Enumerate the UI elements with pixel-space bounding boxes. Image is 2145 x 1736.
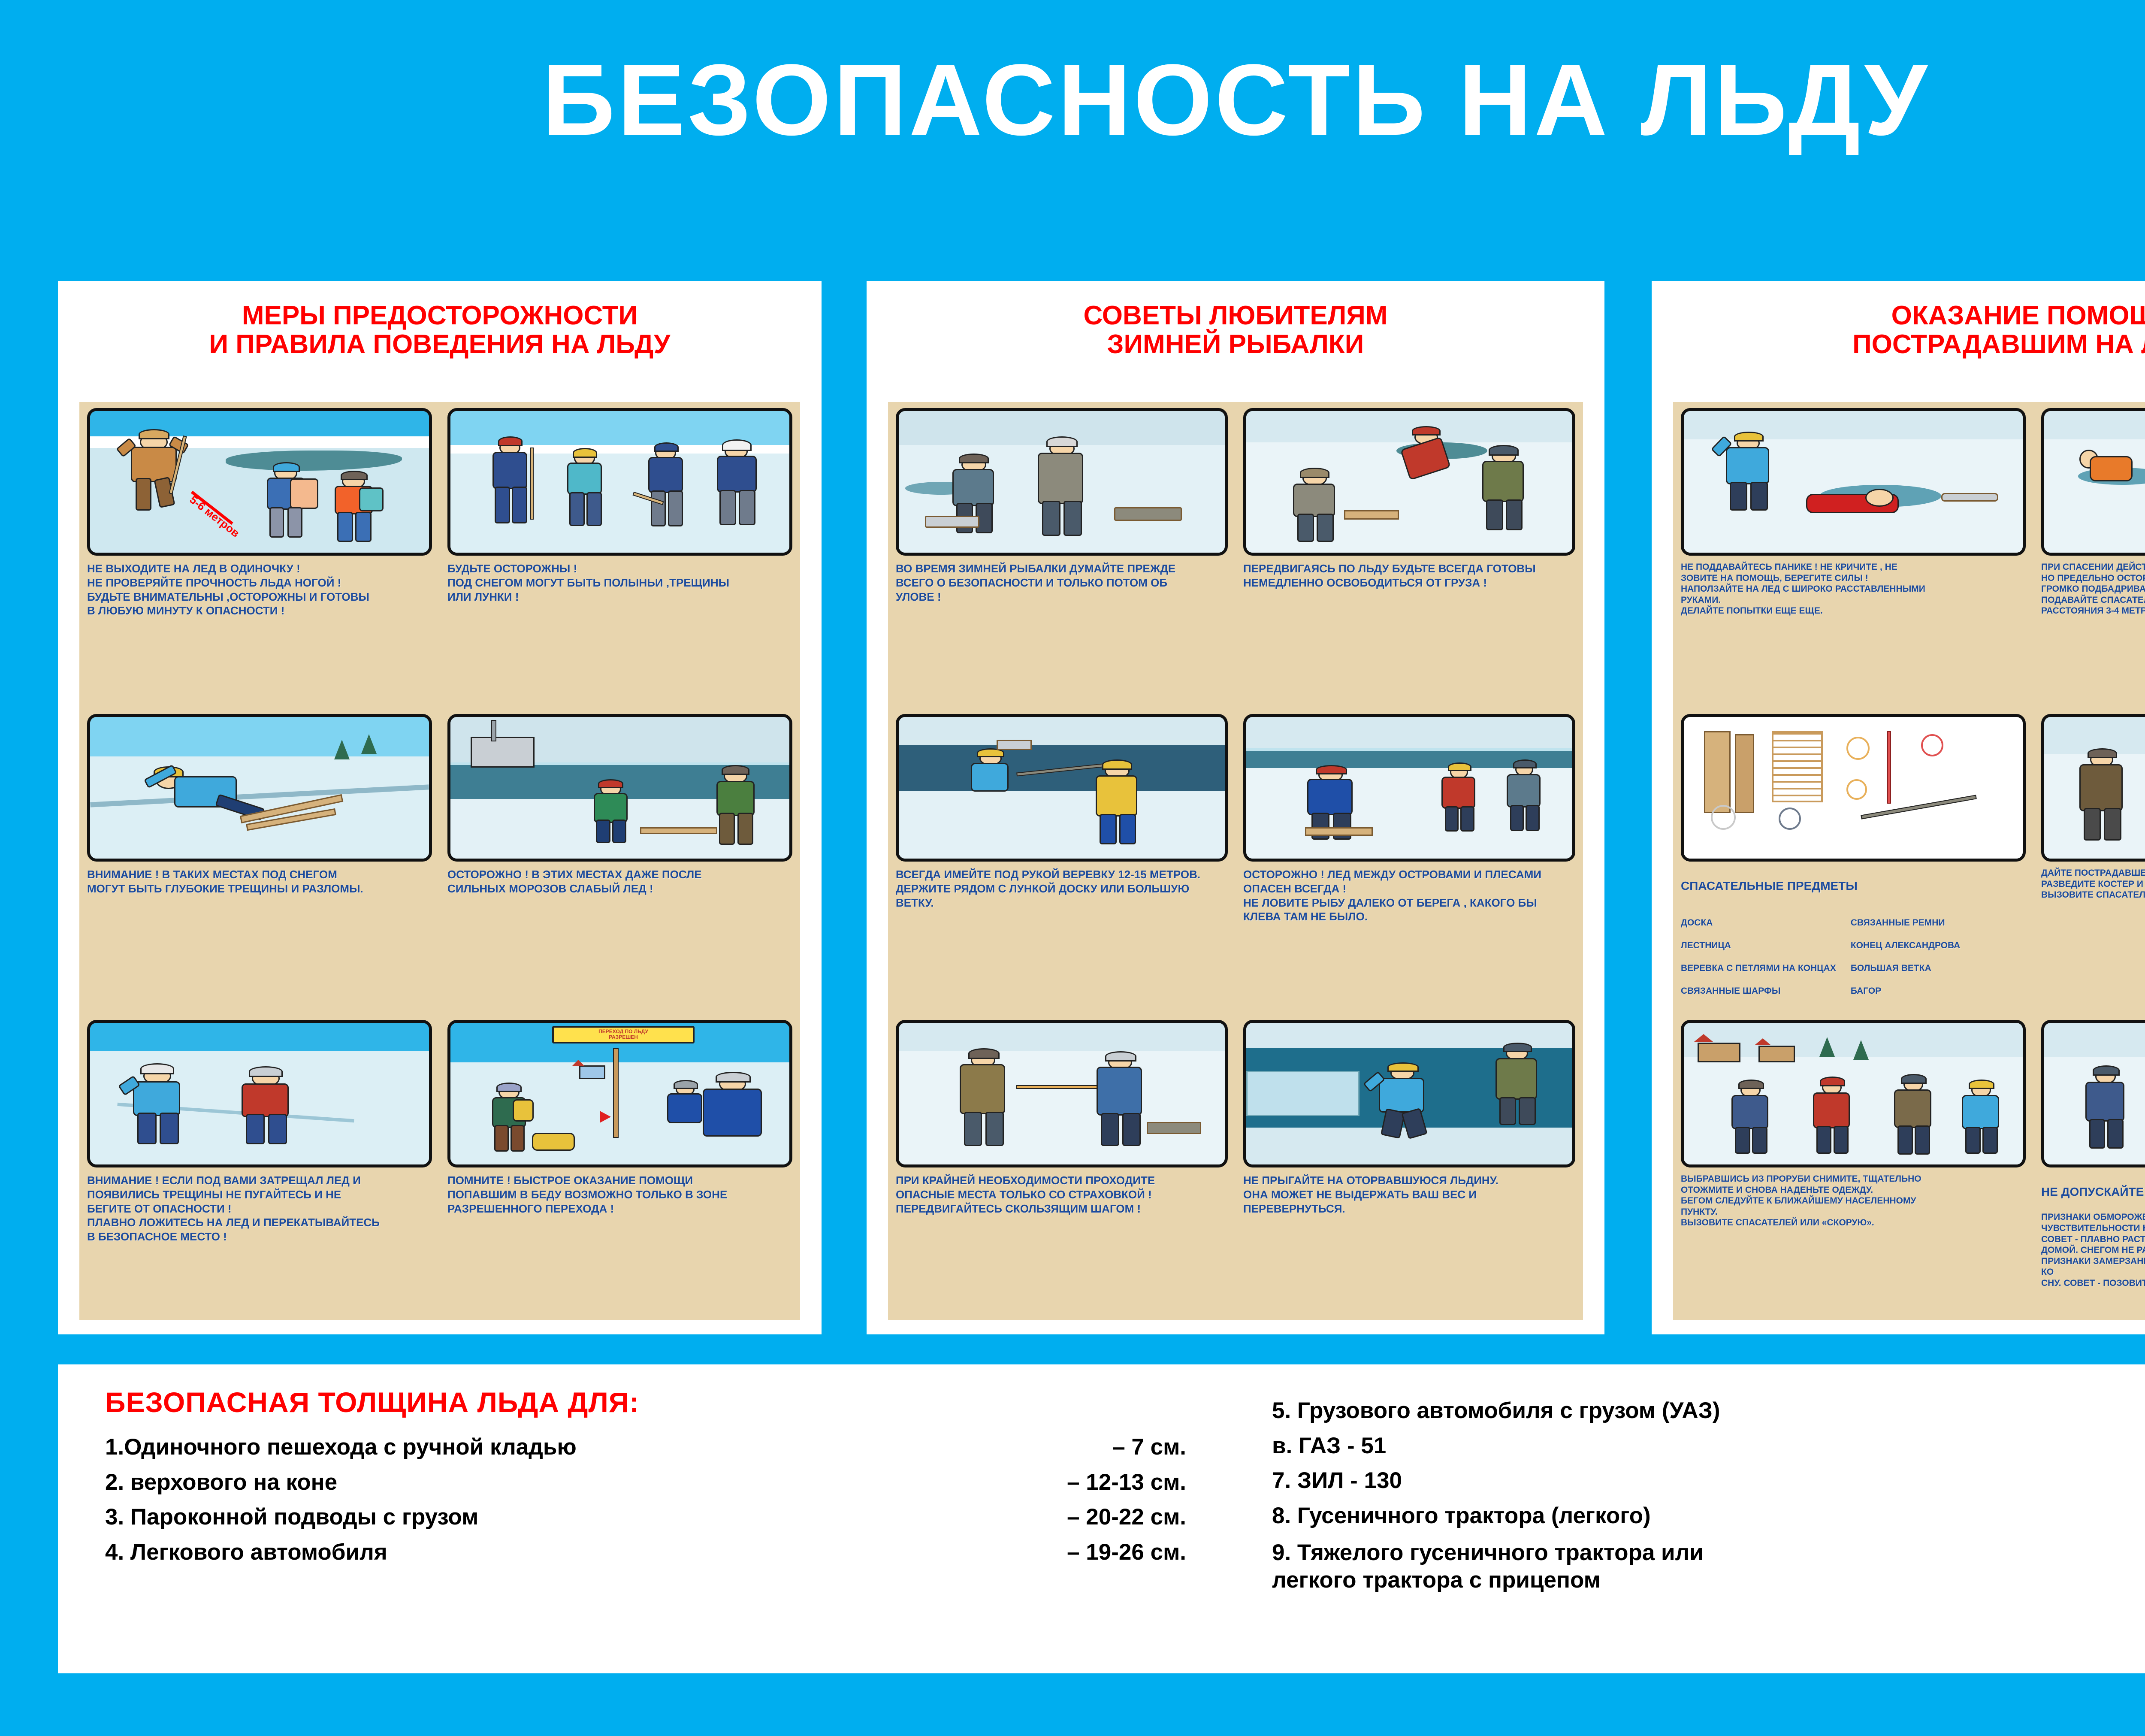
table-row: 9. Тяжелого гусеничного трактора или лег…	[1272, 1539, 2145, 1594]
panel-cell: СПАСАТЕЛЬНЫЕ ПРЕДМЕТЫ ДОСКА ЛЕСТНИЦА ВЕР…	[1673, 708, 2033, 1014]
section-title-ice-fishing: СОВЕТЫ ЛЮБИТЕЛЯМ ЗИМНЕЙ РЫБАЛКИ	[867, 281, 1604, 359]
ice-thickness-title: БЕЗОПАСНАЯ ТОЛЩИНА ЛЬДА ДЛЯ:	[105, 1386, 639, 1418]
list-item: БАГОР	[1851, 985, 1961, 997]
panel-cell: БУДЬТЕ ОСТОРОЖНЫ ! ПОД СНЕГОМ МОГУТ БЫТЬ…	[440, 402, 800, 708]
illustration-factory-outflow-weak-ice	[447, 714, 792, 862]
panel-caption: ВНИМАНИЕ ! ЕСЛИ ПОД ВАМИ ЗАТРЕЩАЛ ЛЕД И …	[87, 1167, 432, 1317]
panel-caption: ДАЙТЕ ПОСТРАДАВШЕМУ ЧАСТЬ СВОЕЙ ОДЕЖДЫ. …	[2041, 862, 2145, 1011]
ice-thickness-column-right: 5. Грузового автомобиля с грузом (УАЗ) –…	[1272, 1399, 2145, 1606]
panel-cell: ВЫБРАВШИСЬ ИЗ ПРОРУБИ СНИМИТЕ, ТЩАТЕЛЬНО…	[1673, 1014, 2033, 1320]
list-item: ВЕРЕВКА С ПЕТЛЯМИ НА КОНЦАХ	[1681, 962, 1836, 974]
panel-cell: ВНИМАНИЕ ! ЕСЛИ ПОД ВАМИ ЗАТРЕЩАЛ ЛЕД И …	[79, 1014, 440, 1320]
ice-thickness-table-card: БЕЗОПАСНАЯ ТОЛЩИНА ЛЬДА ДЛЯ: 1.Одиночног…	[58, 1364, 2145, 1673]
table-row: 1.Одиночного пешехода с ручной кладью – …	[105, 1435, 1186, 1459]
panel-cell: ВСЕГДА ИМЕЙТЕ ПОД РУКОЙ ВЕРЕВКУ 12-15 МЕ…	[888, 708, 1236, 1014]
table-cell-value: – 12-13 см.	[1067, 1470, 1186, 1494]
illustration-frostbite-help	[2041, 1020, 2145, 1167]
table-row: 8. Гусеничного трактора (легкого) – 39-5…	[1272, 1504, 2145, 1528]
panel-row: ВНИМАНИЕ ! ЕСЛИ ПОД ВАМИ ЗАТРЕЩАЛ ЛЕД И …	[79, 1014, 800, 1320]
panel-cell: ОСТОРОЖНО ! ЛЕД МЕЖДУ ОСТРОВАМИ И ПЛЕСАМ…	[1236, 708, 1583, 1014]
panel-caption: ПЕРЕДВИГАЯСЬ ПО ЛЬДУ БУДЬТЕ ВСЕГДА ГОТОВ…	[1243, 556, 1575, 705]
panel-caption: ВНИМАНИЕ ! В ТАКИХ МЕСТАХ ПОД СНЕГОМ МОГ…	[87, 862, 432, 1011]
illustration-skiers-and-hockey-players	[447, 408, 792, 556]
illustration-jumping-onto-ice-floe	[1243, 1020, 1575, 1167]
panel-caption: ВСЕГДА ИМЕЙТЕ ПОД РУКОЙ ВЕРЕВКУ 12-15 МЕ…	[896, 862, 1228, 1011]
panel-cell: НЕ ПРЫГАЙТЕ НА ОТОРВАВШУЮСЯ ЛЬДИНУ. ОНА …	[1236, 1014, 1583, 1320]
section-card-ice-fishing: СОВЕТЫ ЛЮБИТЕЛЯМ ЗИМНЕЙ РЫБАЛКИ	[867, 281, 1604, 1334]
illustration-man-falling-through-ice: 5-6 метров	[87, 408, 432, 556]
table-cell-label: 4. Легкового автомобиля	[105, 1540, 387, 1564]
illustration-authorized-ice-crossing: ПЕРЕХОД ПО ЛЬДУ РАЗРЕШЕН	[447, 1020, 792, 1167]
panel-grid-precautions: 5-6 метров	[79, 402, 800, 1320]
table-cell-label: 8. Гусеничного трактора (легкого)	[1272, 1504, 1651, 1528]
list-item: СВЯЗАННЫЕ ШАРФЫ	[1681, 985, 1836, 997]
panel-caption: НЕ ВЫХОДИТЕ НА ЛЕД В ОДИНОЧКУ ! НЕ ПРОВЕ…	[87, 556, 432, 705]
illustration-running-to-village	[1681, 1020, 2026, 1167]
panel-cell: 5-6 метров	[79, 402, 440, 708]
panel-grid-ice-fishing: ВО ВРЕМЯ ЗИМНЕЙ РЫБАЛКИ ДУМАЙТЕ ПРЕЖДЕ В…	[888, 402, 1583, 1320]
panel-cell: ПЕРЕХОД ПО ЛЬДУ РАЗРЕШЕН	[440, 1014, 800, 1320]
section-card-first-aid: ОКАЗАНИЕ ПОМОЩИ ПОСТРАДАВШИМ НА ЛЬДУ	[1652, 281, 2145, 1334]
panel-cell: ПРИ СПАСЕНИИ ДЕЙСТВУЙТЕ БЫСТРО, РЕШИТЕЛЬ…	[2033, 402, 2145, 708]
table-cell-label: 5. Грузового автомобиля с грузом (УАЗ)	[1272, 1399, 1720, 1423]
illustration-boy-falling-with-sled	[87, 714, 432, 862]
list-item: КОНЕЦ АЛЕКСАНДРОВА	[1851, 940, 1961, 951]
panel-caption: НЕ ДОПУСКАЙТЕ ОБМОРОЖЕНИЯ И ЗАМЕРЗАНИЯ. …	[2041, 1167, 2145, 1317]
table-cell-value: – 19-26 см.	[1067, 1540, 1186, 1564]
table-cell-label: 7. ЗИЛ - 130	[1272, 1469, 1402, 1493]
page-title: БЕЗОПАСНОСТЬ НА ЛЬДУ	[0, 49, 2145, 151]
table-cell-label: в. ГАЗ - 51	[1272, 1434, 1386, 1458]
ice-crossing-sign: ПЕРЕХОД ПО ЛЬДУ РАЗРЕШЕН	[552, 1026, 695, 1044]
panel-row: ПРИ КРАЙНЕЙ НЕОБХОДИМОСТИ ПРОХОДИТЕ ОПАС…	[888, 1014, 1583, 1320]
panel-caption: ВЫБРАВШИСЬ ИЗ ПРОРУБИ СНИМИТЕ, ТЩАТЕЛЬНО…	[1681, 1167, 2026, 1317]
list-item: БОЛЬШАЯ ВЕТКА	[1851, 962, 1961, 974]
panel-cell: ОСТОРОЖНО ! В ЭТИХ МЕСТАХ ДАЖЕ ПОСЛЕ СИЛ…	[440, 708, 800, 1014]
ice-thickness-column-left: 1.Одиночного пешехода с ручной кладью – …	[105, 1435, 1186, 1576]
table-cell-label: 1.Одиночного пешехода с ручной кладью	[105, 1435, 577, 1459]
panel-cell: ВО ВРЕМЯ ЗИМНЕЙ РЫБАЛКИ ДУМАЙТЕ ПРЕЖДЕ В…	[888, 402, 1236, 708]
illustration-ice-between-islands	[1243, 714, 1575, 862]
frostbite-warning-heading: НЕ ДОПУСКАЙТЕ ОБМОРОЖЕНИЯ И ЗАМЕРЗАНИЯ.	[2041, 1185, 2145, 1199]
panel-caption: ОСТОРОЖНО ! В ЭТИХ МЕСТАХ ДАЖЕ ПОСЛЕ СИЛ…	[447, 862, 792, 1011]
illustration-lie-down-and-roll-to-safety	[87, 1020, 432, 1167]
panel-caption: ПРИ КРАЙНЕЙ НЕОБХОДИМОСТИ ПРОХОДИТЕ ОПАС…	[896, 1167, 1228, 1317]
panel-caption: ПРИ СПАСЕНИИ ДЕЙСТВУЙТЕ БЫСТРО, РЕШИТЕЛЬ…	[2041, 556, 2145, 705]
illustration-victim-crawling-out-of-hole	[1681, 408, 2026, 556]
panel-grid-first-aid: НЕ ПОДДАВАЙТЕСЬ ПАНИКЕ ! НЕ КРИЧИТЕ , НЕ…	[1673, 402, 2145, 1320]
illustration-two-fishermen-roped-together	[896, 1020, 1228, 1167]
table-cell-label: 9. Тяжелого гусеничного трактора или лег…	[1272, 1539, 1704, 1594]
frostbite-details: ПРИЗНАКИ ОБМОРОЖЕНИЯ - ПОБЛЕДНЕНИЕ КОЖИ …	[2041, 1212, 2145, 1288]
table-row: 4. Легкового автомобиля – 19-26 см.	[105, 1540, 1186, 1564]
section-title-first-aid: ОКАЗАНИЕ ПОМОЩИ ПОСТРАДАВШИМ НА ЛЬДУ	[1652, 281, 2145, 359]
panel-caption: НЕ ПРЫГАЙТЕ НА ОТОРВАВШУЮСЯ ЛЬДИНУ. ОНА …	[1243, 1167, 1575, 1317]
panel-row: СПАСАТЕЛЬНЫЕ ПРЕДМЕТЫ ДОСКА ЛЕСТНИЦА ВЕР…	[1673, 708, 2145, 1014]
panel-row: ВНИМАНИЕ ! В ТАКИХ МЕСТАХ ПОД СНЕГОМ МОГ…	[79, 708, 800, 1014]
table-cell-value: – 20-22 см.	[1067, 1505, 1186, 1529]
list-item: ДОСКА	[1681, 917, 1836, 928]
rescue-equipment-heading: СПАСАТЕЛЬНЫЕ ПРЕДМЕТЫ	[1681, 879, 2026, 893]
panel-caption: НЕ ПОДДАВАЙТЕСЬ ПАНИКЕ ! НЕ КРИЧИТЕ , НЕ…	[1681, 556, 2026, 705]
list-item: ЛЕСТНИЦА	[1681, 940, 1836, 951]
panel-row: 5-6 метров	[79, 402, 800, 708]
rescue-items-right: СВЯЗАННЫЕ РЕМНИ КОНЕЦ АЛЕКСАНДРОВА БОЛЬШ…	[1851, 906, 1961, 1007]
panel-row: НЕ ПОДДАВАЙТЕСЬ ПАНИКЕ ! НЕ КРИЧИТЕ , НЕ…	[1673, 402, 2145, 708]
panel-cell: ВНИМАНИЕ ! В ТАКИХ МЕСТАХ ПОД СНЕГОМ МОГ…	[79, 708, 440, 1014]
rescue-items-left: ДОСКА ЛЕСТНИЦА ВЕРЕВКА С ПЕТЛЯМИ НА КОНЦ…	[1681, 906, 1836, 1007]
table-row: 5. Грузового автомобиля с грузом (УАЗ) –…	[1272, 1399, 2145, 1423]
table-row: в. ГАЗ - 51 – 25-44 см.	[1272, 1434, 2145, 1458]
illustration-fisherman-falling-with-load	[1243, 408, 1575, 556]
rescue-equipment-list: СПАСАТЕЛЬНЫЕ ПРЕДМЕТЫ ДОСКА ЛЕСТНИЦА ВЕР…	[1681, 862, 2026, 1019]
panel-caption: ВО ВРЕМЯ ЗИМНЕЙ РЫБАЛКИ ДУМАЙТЕ ПРЕЖДЕ В…	[896, 556, 1228, 705]
table-row: 7. ЗИЛ - 130 – 34-45 см.	[1272, 1469, 2145, 1493]
illustration-two-ice-fishermen	[896, 408, 1228, 556]
panel-cell: ДАЙТЕ ПОСТРАДАВШЕМУ ЧАСТЬ СВОЕЙ ОДЕЖДЫ. …	[2033, 708, 2145, 1014]
panel-caption: БУДЬТЕ ОСТОРОЖНЫ ! ПОД СНЕГОМ МОГУТ БЫТЬ…	[447, 556, 792, 705]
table-row: 2. верхового на коне – 12-13 см.	[105, 1470, 1186, 1494]
illustration-rescuers-chain	[2041, 408, 2145, 556]
panel-caption: ОСТОРОЖНО ! ЛЕД МЕЖДУ ОСТРОВАМИ И ПЛЕСАМ…	[1243, 862, 1575, 1011]
panel-cell: НЕ ПОДДАВАЙТЕСЬ ПАНИКЕ ! НЕ КРИЧИТЕ , НЕ…	[1673, 402, 2033, 708]
table-cell-label: 3. Пароконной подводы с грузом	[105, 1505, 478, 1529]
panel-cell: ПРИ КРАЙНЕЙ НЕОБХОДИМОСТИ ПРОХОДИТЕ ОПАС…	[888, 1014, 1236, 1320]
panel-row: ВСЕГДА ИМЕЙТЕ ПОД РУКОЙ ВЕРЕВКУ 12-15 МЕ…	[888, 708, 1583, 1014]
section-card-precautions: МЕРЫ ПРЕДОСТОРОЖНОСТИ И ПРАВИЛА ПОВЕДЕНИ…	[58, 281, 822, 1334]
table-cell-label: 2. верхового на коне	[105, 1470, 337, 1494]
panel-row: ВО ВРЕМЯ ЗИМНЕЙ РЫБАЛКИ ДУМАЙТЕ ПРЕЖДЕ В…	[888, 402, 1583, 708]
illustration-rescue-equipment	[1681, 714, 2026, 862]
panel-cell: ПЕРЕДВИГАЯСЬ ПО ЛЬДУ БУДЬТЕ ВСЕГДА ГОТОВ…	[1236, 402, 1583, 708]
panel-row: ВЫБРАВШИСЬ ИЗ ПРОРУБИ СНИМИТЕ, ТЩАТЕЛЬНО…	[1673, 1014, 2145, 1320]
table-row: 3. Пароконной подводы с грузом – 20-22 с…	[105, 1505, 1186, 1529]
panel-caption: ПОМНИТЕ ! БЫСТРОЕ ОКАЗАНИЕ ПОМОЩИ ПОПАВШ…	[447, 1167, 792, 1317]
panel-cell: НЕ ДОПУСКАЙТЕ ОБМОРОЖЕНИЯ И ЗАМЕРЗАНИЯ. …	[2033, 1014, 2145, 1320]
illustration-rescue-with-rope-at-crack	[896, 714, 1228, 862]
illustration-warming-victim-by-fire	[2041, 714, 2145, 862]
section-title-precautions: МЕРЫ ПРЕДОСТОРОЖНОСТИ И ПРАВИЛА ПОВЕДЕНИ…	[58, 281, 822, 359]
list-item: СВЯЗАННЫЕ РЕМНИ	[1851, 917, 1961, 928]
table-cell-value: – 7 см.	[1112, 1435, 1186, 1459]
